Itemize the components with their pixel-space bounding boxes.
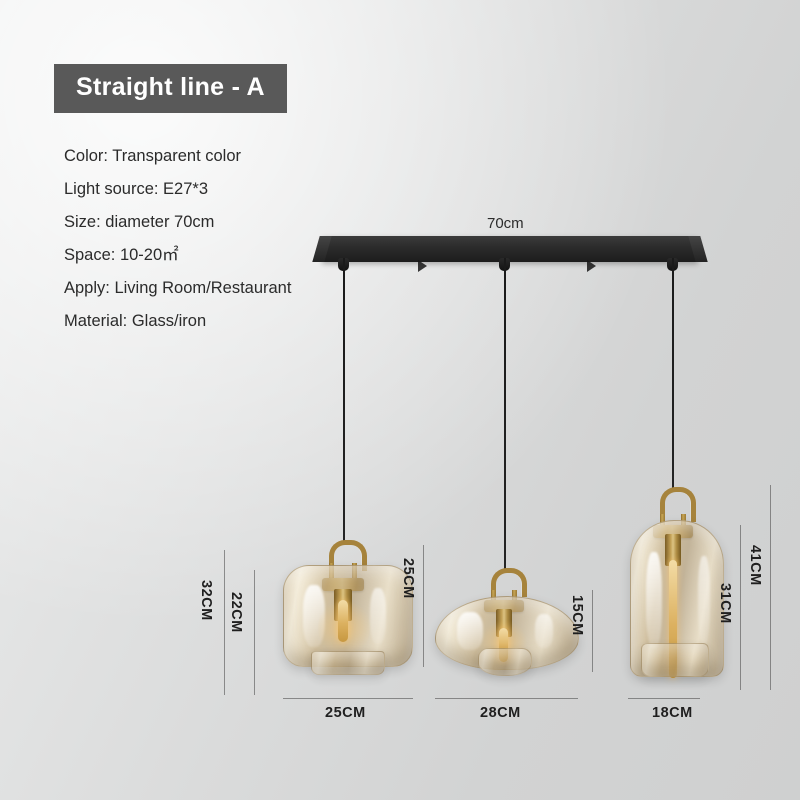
plate-width-label: 70cm (487, 215, 524, 232)
cord-middle (504, 258, 506, 573)
dim-line-22cm (254, 570, 255, 695)
plate-screw-icon (418, 260, 427, 272)
bulb-filament (338, 600, 348, 642)
plate-screw-icon (587, 260, 596, 272)
dim-label-18cm-width: 18CM (652, 705, 693, 721)
dim-line-28cm-width (435, 698, 578, 699)
dim-label-22cm: 22CM (228, 592, 244, 633)
cord-right (672, 258, 674, 488)
dim-label-25cm-width: 25CM (325, 705, 366, 721)
hanger-loop (660, 487, 696, 522)
dim-line-25cm-width (283, 698, 413, 699)
variant-title-badge: Straight line - A (54, 64, 287, 113)
glass-highlight (370, 588, 386, 644)
ceiling-mount-plate (322, 236, 698, 262)
dim-label-31cm: 31CM (717, 583, 733, 624)
glass-highlight (535, 614, 553, 648)
dim-label-28cm-width: 28CM (480, 705, 521, 721)
dim-line-15cm (592, 590, 593, 672)
spec-light-source: Light source: E27*3 (64, 173, 394, 206)
dim-line-41cm (770, 485, 771, 690)
dim-label-32cm: 32CM (198, 580, 214, 621)
hanger-loop (491, 568, 527, 597)
spec-size: Size: diameter 70cm (64, 206, 394, 239)
spec-color: Color: Transparent color (64, 140, 394, 173)
dim-label-25cm-height: 25CM (400, 558, 416, 599)
glass-base-rim (641, 643, 709, 677)
dim-line-31cm (740, 525, 741, 690)
dim-label-15cm: 15CM (569, 595, 585, 636)
dim-label-41cm: 41CM (747, 545, 763, 586)
cord-left (343, 258, 345, 543)
product-image-canvas: Straight line - A Color: Transparent col… (0, 0, 800, 800)
glass-base-rim (311, 651, 385, 675)
dim-line-32cm (224, 550, 225, 695)
glass-highlight (698, 556, 710, 644)
glass-highlight (646, 552, 662, 648)
dim-line-18cm-width (628, 698, 700, 699)
glass-base-rim (478, 648, 532, 676)
dim-line-25cm-height (423, 545, 424, 667)
